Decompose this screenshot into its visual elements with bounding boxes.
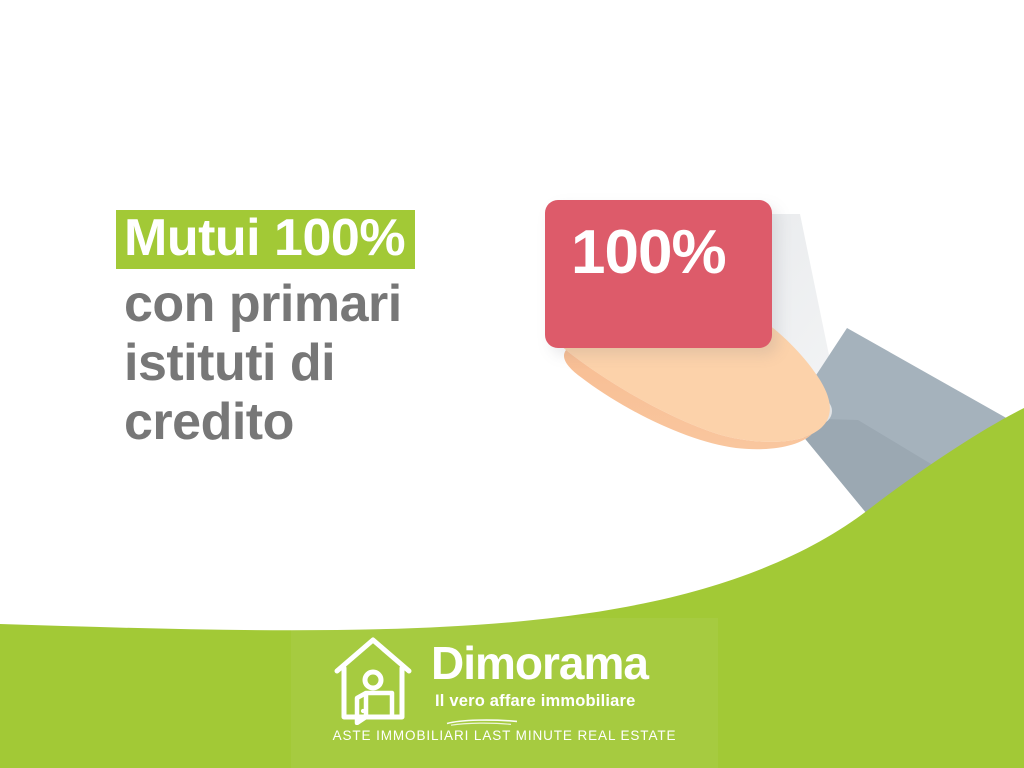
headline-line-2: con primari xyxy=(124,275,544,334)
logo-tagline: Il vero affare immobiliare xyxy=(435,692,636,710)
headline-highlight: Mutui 100% xyxy=(116,210,415,269)
logo-subline: ASTE IMMOBILIARI LAST MINUTE REAL ESTATE xyxy=(291,728,718,744)
headline-block: Mutui 100% con primari istituti di credi… xyxy=(124,210,544,452)
brand-logo[interactable]: Dimorama Il vero affare immobiliare ASTE… xyxy=(291,618,718,768)
logo-wordmark: Dimorama xyxy=(431,640,648,686)
percentage-card: 100% xyxy=(545,200,772,348)
logo-divider-icon xyxy=(445,718,519,726)
percentage-card-value: 100% xyxy=(571,222,726,284)
headline-line-4: credito xyxy=(124,393,544,452)
banner-canvas: Mutui 100% con primari istituti di credi… xyxy=(0,0,1024,768)
headline-line-3: istituti di xyxy=(124,334,544,393)
house-icon xyxy=(332,635,414,725)
